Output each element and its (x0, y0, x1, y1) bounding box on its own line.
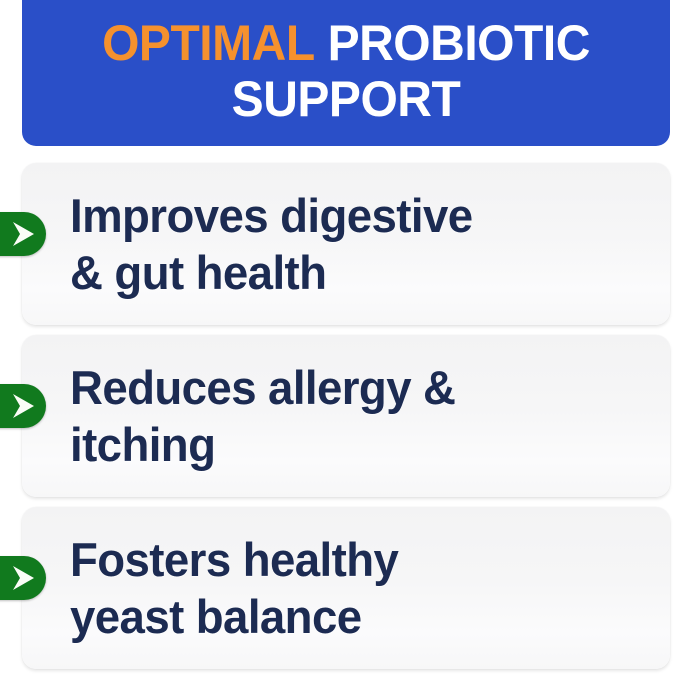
benefit-card-list: Improves digestive & gut health Reduces … (0, 160, 679, 676)
chevron-right-icon (0, 212, 46, 256)
benefit-card-allergy-itching[interactable]: Reduces allergy & itching (22, 335, 670, 497)
chevron-right-icon (0, 384, 46, 428)
banner-word-optimal: OPTIMAL (102, 15, 315, 71)
optimal-probiotic-support-banner: OPTIMAL PROBIOTIC SUPPORT (22, 0, 670, 146)
benefit-card-wrapper-3: Fosters healthy yeast balance (0, 504, 679, 666)
benefit-card-wrapper-2: Reduces allergy & itching (0, 332, 679, 494)
benefit-line-3a: Fosters healthy (70, 533, 398, 586)
benefit-line-1a: Improves digestive (70, 189, 473, 242)
benefit-card-wrapper-1: Improves digestive & gut health (0, 160, 679, 322)
banner-headline-line-2: SUPPORT (35, 72, 657, 126)
benefit-line-1b: & gut health (70, 246, 326, 299)
benefit-card-yeast-balance[interactable]: Fosters healthy yeast balance (22, 507, 670, 669)
benefit-line-2a: Reduces allergy & (70, 361, 455, 414)
chevron-right-icon (0, 556, 46, 600)
benefit-card-text-3: Fosters healthy yeast balance (70, 531, 398, 645)
banner-word-probiotic: PROBIOTIC (328, 15, 590, 71)
benefit-card-digestive-gut-health[interactable]: Improves digestive & gut health (22, 163, 670, 325)
benefit-line-2b: itching (70, 418, 215, 471)
benefit-card-text-2: Reduces allergy & itching (70, 359, 455, 473)
benefit-line-3b: yeast balance (70, 590, 361, 643)
banner-headline-line-1: OPTIMAL PROBIOTIC (35, 16, 657, 70)
benefit-card-text-1: Improves digestive & gut health (70, 187, 473, 301)
